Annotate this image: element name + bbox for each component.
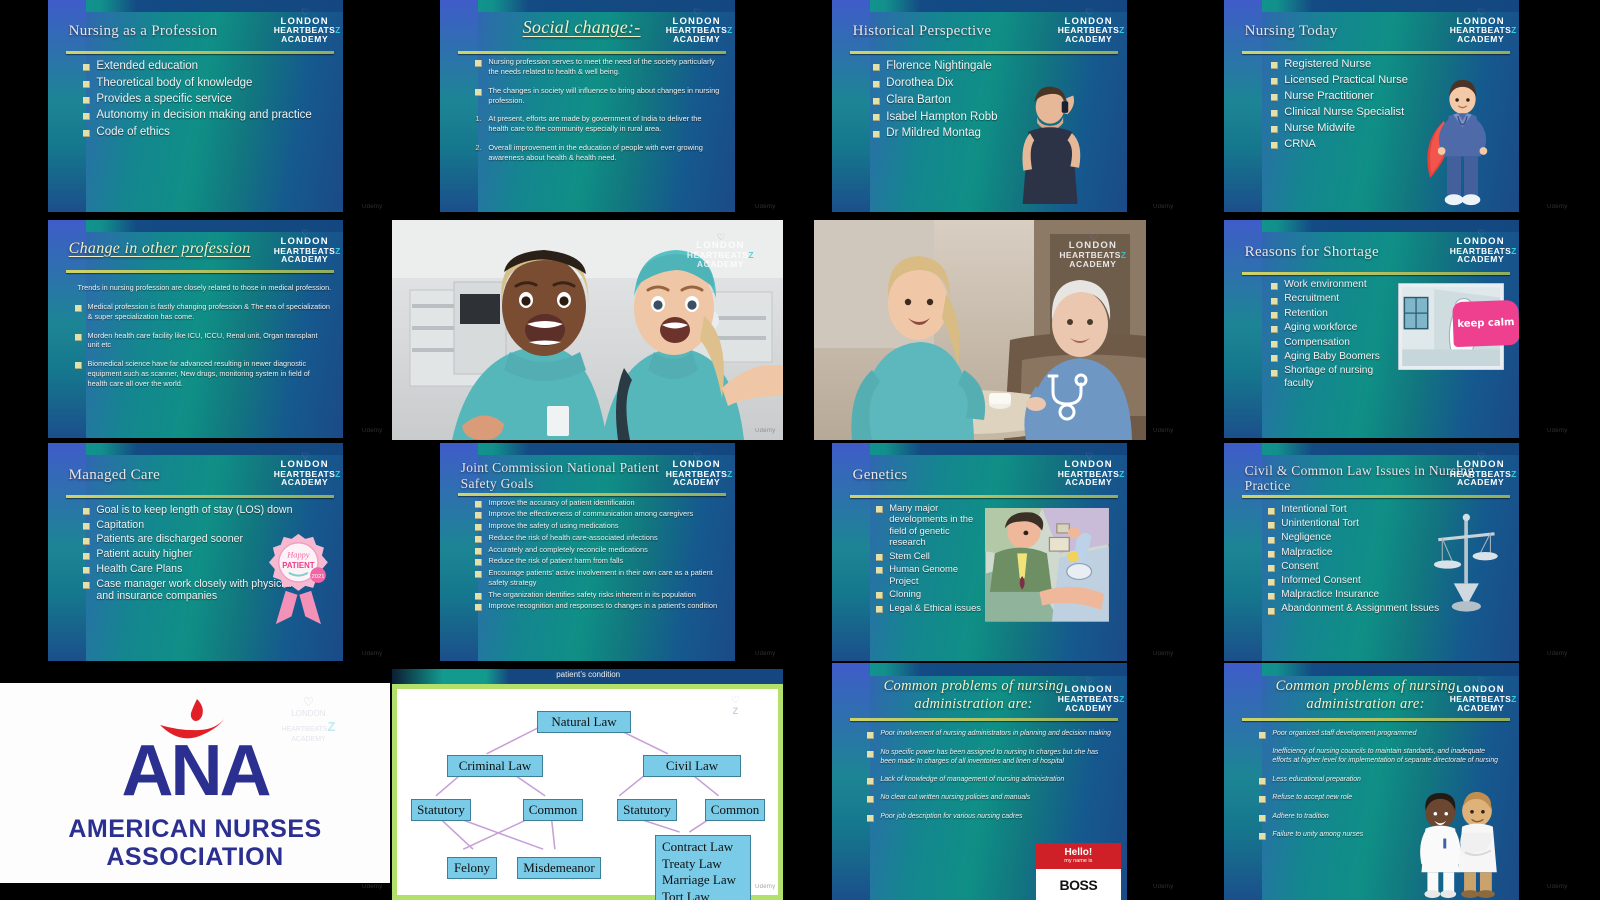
- watermark-udemy: Udemy: [755, 204, 776, 210]
- bullet-list: Work environment Recruitment Retention A…: [1271, 279, 1401, 393]
- title-rule: [458, 51, 726, 54]
- slide-tile-managed-care[interactable]: Managed Care ♡ LONDON HEARTBEATSZ ACADEM…: [48, 443, 343, 661]
- superhero-nurse-illustration: [1413, 76, 1507, 207]
- list-item: 2.Overall improvement in the education o…: [475, 143, 720, 163]
- list-item: Human Genome Project: [876, 563, 985, 586]
- slide-background: Nursing as a Profession ♡ LONDON HEARTBE…: [48, 0, 343, 212]
- page-title: Managed Care: [69, 467, 278, 484]
- list-item: Reduce the risk of patient harm from fal…: [475, 556, 723, 566]
- keep-calm-hospital-corridor-clipart: keep calm: [1398, 283, 1504, 370]
- brand-logo-watermark: ♡ Z: [731, 695, 740, 716]
- slide-left-band: [832, 663, 870, 900]
- ana-logo-slide: ANA AMERICAN NURSES ASSOCIATION ♡ LONDON…: [0, 683, 390, 883]
- happy-patient-rosette-badge: Happy PATIENT 2021: [263, 530, 334, 628]
- keep-calm-label: keep calm: [1457, 317, 1514, 329]
- page-title: Historical Perspective: [853, 23, 1062, 40]
- slide-left-band: [1224, 663, 1262, 900]
- brand-logo: ♡ LONDON HEARTBEATSZ ACADEMY: [666, 8, 728, 43]
- list-item: No clear cut written nursing policies an…: [867, 793, 1112, 802]
- list-item: Poor organized staff development program…: [1259, 729, 1504, 738]
- photo-tile-nurse-with-elderly[interactable]: ♡ LONDON HEARTBEATSZ ACADEMY: [814, 220, 1146, 440]
- title-rule: [66, 51, 334, 54]
- list-item: The organization identifies safety risks…: [475, 590, 723, 600]
- title-rule: [458, 493, 726, 496]
- watermark-udemy: Udemy: [1153, 204, 1174, 210]
- svg-text:PATIENT: PATIENT: [283, 561, 316, 570]
- list-item: Accurately and completely reconcile medi…: [475, 545, 723, 555]
- list-item: Compensation: [1271, 337, 1401, 349]
- bullet-list: Many major developments in the field of …: [876, 502, 985, 615]
- node-natural-law[interactable]: Natural Law: [537, 711, 631, 733]
- slide-background: Civil & Common Law Issues in Nursing Pra…: [1224, 443, 1519, 661]
- brand-line3: ACADEMY: [1450, 478, 1512, 487]
- slide-grid-canvas: Nursing as a Profession ♡ LONDON HEARTBE…: [0, 0, 1600, 900]
- slide-top-bar: [1224, 663, 1519, 676]
- watermark-udemy: Udemy: [755, 884, 776, 890]
- overlay-caption: patient’s condition: [556, 670, 620, 679]
- svg-text:2021: 2021: [312, 574, 325, 580]
- brand-logo: ♡ LONDON HEARTBEATSZ ACADEMY: [1053, 233, 1133, 268]
- list-item: Retention: [1271, 308, 1401, 320]
- photo-tile-two-nurses-selfie[interactable]: ♡ LONDON HEARTBEATSZ ACADEMY: [392, 220, 783, 440]
- node-criminal-law[interactable]: Criminal Law: [447, 755, 543, 777]
- heart-pulse-icon: ♡: [1450, 452, 1512, 461]
- ana-wordmark: ANA: [0, 741, 390, 802]
- scientist-with-microscope-clipart: [985, 508, 1109, 621]
- brand-line3: ACADEMY: [666, 478, 728, 487]
- badge-name-value: BOSS: [1059, 877, 1097, 893]
- heart-pulse-icon: ♡: [281, 695, 335, 709]
- title-rule: [1242, 495, 1510, 498]
- page-title: Nursing Today: [1245, 23, 1454, 40]
- brand-line3: ACADEMY: [666, 35, 728, 44]
- list-item: Stem Cell: [876, 550, 985, 561]
- list-item: Less educational preparation: [1259, 775, 1504, 784]
- node-civil-law-types[interactable]: Contract Law Treaty Law Marriage Law Tor…: [655, 835, 751, 900]
- list-item: Morden health care facility like ICU, IC…: [75, 331, 332, 351]
- slide-tile-reasons-for-shortage[interactable]: Reasons for Shortage ♡ LONDON HEARTBEATS…: [1224, 220, 1519, 438]
- watermark-udemy: Udemy: [1547, 884, 1568, 890]
- slide-tile-common-problems-2[interactable]: Common problems of nursing administratio…: [1224, 663, 1519, 900]
- brand-line3: ACADEMY: [1450, 35, 1512, 44]
- watermark-udemy: Udemy: [1547, 204, 1568, 210]
- slide-tile-nursing-as-a-profession[interactable]: Nursing as a Profession ♡ LONDON HEARTBE…: [48, 0, 343, 212]
- list-item: Legal & Ethical issues: [876, 602, 985, 613]
- list-item: Aging workforce: [1271, 322, 1401, 334]
- slide-background: Genetics ♡ LONDON HEARTBEATSZ ACADEMY Ma…: [832, 443, 1127, 661]
- list-item: Goal is to keep length of stay (LOS) dow…: [83, 504, 319, 517]
- previous-slide-strip: patient’s condition: [392, 669, 783, 684]
- list-item: Registered Nurse: [1271, 57, 1442, 71]
- list-item: The changes in society will influence to…: [475, 86, 720, 106]
- slide-background: Nursing Today ♡ LONDON HEARTBEATSZ ACADE…: [1224, 0, 1519, 212]
- heart-pulse-icon: ♡: [274, 8, 336, 17]
- bullet-list: Improve the accuracy of patient identifi…: [475, 498, 723, 614]
- two-nurses-cartoon: [1407, 789, 1507, 898]
- heart-pulse-icon: ♡: [1058, 677, 1120, 686]
- brand-line3: ACADEMY: [274, 35, 336, 44]
- brand-logo: ♡ LONDON HEARTBEATSZ ACADEMY: [274, 452, 336, 487]
- watermark-udemy: Udemy: [362, 884, 383, 890]
- list-item: Trends in nursing profession are closely…: [75, 283, 332, 293]
- watermark-udemy: Udemy: [1153, 651, 1174, 657]
- heart-pulse-icon: ♡: [1053, 233, 1133, 242]
- bullet-list: Poor involvement of nursing administrato…: [867, 729, 1112, 823]
- brand-logo: ♡ LONDON HEARTBEATSZ ACADEMY: [1058, 8, 1120, 43]
- list-item: Improve recognition and responses to cha…: [475, 601, 723, 611]
- brand-line3: ACADEMY: [674, 260, 768, 269]
- brand-line3: ACADEMY: [1058, 704, 1120, 713]
- list-item: Improve the safety of using medications: [475, 521, 723, 531]
- slide-tile-common-problems-1[interactable]: Common problems of nursing administratio…: [832, 663, 1127, 900]
- slide-tile-genetics[interactable]: Genetics ♡ LONDON HEARTBEATSZ ACADEMY Ma…: [832, 443, 1127, 661]
- watermark-udemy: Udemy: [362, 651, 383, 657]
- title-rule: [66, 270, 334, 273]
- brand-logo: ♡ LONDON HEARTBEATSZ ACADEMY: [674, 233, 768, 268]
- brand-line3: ACADEMY: [274, 255, 336, 264]
- list-item: Work environment: [1271, 279, 1401, 291]
- bullet-list: Nursing profession serves to meet the ne…: [475, 57, 720, 164]
- heart-pulse-icon: ♡: [1450, 229, 1512, 238]
- heart-pulse-icon: ♡: [666, 452, 728, 461]
- list-item: Improve the effectiveness of communicati…: [475, 509, 723, 519]
- bullet-list: Trends in nursing profession are closely…: [75, 283, 332, 390]
- slide-background: Change in other profession ♡ LONDON HEAR…: [48, 220, 343, 438]
- list-item: Theoretical body of knowledge: [83, 76, 325, 90]
- list-item: Cloning: [876, 588, 985, 599]
- heart-pulse-icon: ♡: [674, 233, 768, 242]
- brand-line3: ACADEMY: [1450, 255, 1512, 264]
- node-felony[interactable]: Felony: [447, 857, 497, 879]
- slide-background: Social change:- ♡ LONDON HEARTBEATSZ ACA…: [440, 0, 735, 212]
- list-item: Lack of knowledge of management of nursi…: [867, 775, 1112, 784]
- heart-pulse-icon: ♡: [274, 452, 336, 461]
- slide-left-band: [440, 0, 478, 212]
- title-rule: [850, 718, 1118, 721]
- bullet-list: Extended education Theoretical body of k…: [83, 59, 325, 141]
- heart-pulse-icon: ♡: [1058, 452, 1120, 461]
- list-item: Reduce the risk of health care-associate…: [475, 533, 723, 543]
- heart-pulse-icon: ♡: [731, 695, 740, 706]
- list-item: 1. At present, efforts are made by gover…: [475, 114, 720, 134]
- brand-line3: ACADEMY: [274, 478, 336, 487]
- brand-logo: ♡ LONDON HEARTBEATSZ ACADEMY: [1450, 8, 1512, 43]
- heart-pulse-icon: ♡: [1450, 8, 1512, 17]
- watermark-udemy: Udemy: [362, 204, 383, 210]
- brand-logo: ♡ LONDON HEARTBEATSZ ACADEMY: [1450, 229, 1512, 264]
- slide-background: Common problems of nursing administratio…: [832, 663, 1127, 900]
- brand-logo: ♡ LONDON HEARTBEATSZ ACADEMY: [274, 8, 336, 43]
- page-title: Joint Commission National Patient Safety…: [461, 460, 665, 490]
- slide-tile-historical-perspective[interactable]: Historical Perspective ♡ LONDON HEARTBEA…: [832, 0, 1127, 212]
- list-item: No specific power has been assigned to n…: [867, 748, 1112, 767]
- title-rule: [850, 495, 1118, 498]
- title-rule: [66, 495, 334, 498]
- list-item: Aging Baby Boomers: [1271, 351, 1401, 363]
- slide-tile-change-in-other-profession[interactable]: Change in other profession ♡ LONDON HEAR…: [48, 220, 343, 438]
- heart-pulse-icon: ♡: [274, 229, 336, 238]
- nurse-with-elderly-patient-photo: ♡ LONDON HEARTBEATSZ ACADEMY: [814, 220, 1146, 440]
- svg-text:Happy: Happy: [287, 551, 311, 560]
- slide-tile-nursing-today[interactable]: Nursing Today ♡ LONDON HEARTBEATSZ ACADE…: [1224, 0, 1519, 212]
- node-misdemeanor[interactable]: Misdemeanor: [517, 857, 601, 879]
- title-rule: [1242, 272, 1510, 275]
- list-item: Autonomy in decision making and practice: [83, 108, 325, 122]
- node-criminal-common[interactable]: Common: [523, 799, 583, 821]
- brand-line3: ACADEMY: [1450, 704, 1512, 713]
- list-item: Nursing profession serves to meet the ne…: [475, 57, 720, 77]
- hello-my-name-is-boss-badge: Hello! my name is BOSS: [1036, 843, 1122, 900]
- slide-background: Managed Care ♡ LONDON HEARTBEATSZ ACADEM…: [48, 443, 343, 661]
- slide-tile-ana-logo[interactable]: ANA AMERICAN NURSES ASSOCIATION ♡ LONDON…: [0, 683, 390, 883]
- list-item: Medical profession is fastly changing pr…: [75, 302, 332, 322]
- slide-top-bar: [832, 663, 1127, 676]
- watermark-udemy: Udemy: [1153, 884, 1174, 890]
- list-item: Provides a specific service: [83, 92, 325, 106]
- watermark-udemy: Udemy: [755, 651, 776, 657]
- two-nurses-selfie-photo: ♡ LONDON HEARTBEATSZ ACADEMY: [392, 220, 783, 440]
- list-item: Biomedical science have far advanced res…: [75, 359, 332, 388]
- heart-pulse-icon: ♡: [1450, 677, 1512, 686]
- brand-logo: ♡ LONDON HEARTBEATSZ ACADEMY: [274, 229, 336, 264]
- watermark-udemy: Udemy: [755, 428, 776, 434]
- title-rule: [1242, 718, 1510, 721]
- list-item: Recruitment: [1271, 293, 1401, 305]
- page-title: Social change:-: [475, 17, 687, 37]
- list-item: Code of ethics: [83, 125, 325, 139]
- man-on-phone-photo: [1000, 81, 1100, 204]
- scales-of-justice-image: [1428, 508, 1505, 613]
- page-title: Common problems of nursing administratio…: [867, 677, 1079, 713]
- ana-full-name: AMERICAN NURSES ASSOCIATION: [0, 815, 390, 871]
- badge-subtitle: my name is: [1064, 858, 1092, 865]
- law-diagram-canvas: Natural Law Criminal Law Civil Law Statu…: [392, 684, 783, 900]
- list-item: Poor job description for various nursing…: [867, 812, 1112, 821]
- watermark-udemy: Udemy: [1153, 428, 1174, 434]
- list-item: Encourage patients’ active involvement i…: [475, 568, 723, 588]
- node-civil-common[interactable]: Common: [705, 799, 765, 821]
- stethoscope-icon: [1041, 370, 1093, 422]
- page-title: Reasons for Shortage: [1245, 244, 1454, 261]
- list-item: Many major developments in the field of …: [876, 502, 985, 548]
- brand-logo: ♡ LONDON HEARTBEATSZ ACADEMY: [1058, 452, 1120, 487]
- page-title: Nursing as a Profession: [69, 23, 278, 40]
- title-rule: [1242, 51, 1510, 54]
- heart-pulse-icon: ♡: [1058, 8, 1120, 17]
- heart-pulse-icon: ♡: [666, 8, 728, 17]
- list-item: Shortage of nursing faculty: [1271, 365, 1401, 390]
- slide-tile-law-hierarchy-diagram[interactable]: patient’s condition Natural Law Criminal…: [392, 669, 783, 900]
- list-item: Extended education: [83, 59, 325, 73]
- slide-background: Common problems of nursing administratio…: [1224, 663, 1519, 900]
- brand-line3: ACADEMY: [1058, 478, 1120, 487]
- list-item: Improve the accuracy of patient identifi…: [475, 498, 723, 508]
- slide-background: Joint Commission National Patient Safety…: [440, 443, 735, 661]
- slide-tile-joint-commission-goals[interactable]: Joint Commission National Patient Safety…: [440, 443, 735, 661]
- brand-logo: ♡ LONDON HEARTBEATSZ ACADEMY: [1450, 452, 1512, 487]
- watermark-udemy: Udemy: [362, 428, 383, 434]
- list-item: Poor involvement of nursing administrato…: [867, 729, 1112, 738]
- node-criminal-statutory[interactable]: Statutory: [411, 799, 471, 821]
- brand-logo: ♡ LONDON HEARTBEATSZ ACADEMY: [1450, 677, 1512, 712]
- page-title: Genetics: [853, 467, 1062, 484]
- brand-logo-watermark: ♡ LONDON HEARTBEATSZ ACADEMY: [281, 695, 335, 743]
- page-title: Common problems of nursing administratio…: [1259, 677, 1471, 713]
- watermark-udemy: Udemy: [1547, 428, 1568, 434]
- list-item: Florence Nightingale: [873, 59, 1032, 74]
- slide-background: Reasons for Shortage ♡ LONDON HEARTBEATS…: [1224, 220, 1519, 438]
- brand-logo: ♡ LONDON HEARTBEATSZ ACADEMY: [666, 452, 728, 487]
- slide-tile-civil-common-law-issues[interactable]: Civil & Common Law Issues in Nursing Pra…: [1224, 443, 1519, 661]
- slide-tile-social-change[interactable]: Social change:- ♡ LONDON HEARTBEATSZ ACA…: [440, 0, 735, 212]
- brand-line3: ACADEMY: [1053, 260, 1133, 269]
- watermark-udemy: Udemy: [1547, 651, 1568, 657]
- node-civil-law[interactable]: Civil Law: [643, 755, 741, 777]
- brand-line3: ACADEMY: [1058, 35, 1120, 44]
- node-civil-statutory[interactable]: Statutory: [617, 799, 677, 821]
- list-item: Inefficiency of nursing councils to main…: [1259, 747, 1504, 766]
- badge-hello-label: Hello!: [1064, 848, 1092, 858]
- slide-background: Historical Perspective ♡ LONDON HEARTBEA…: [832, 0, 1127, 212]
- title-rule: [850, 51, 1118, 54]
- brand-logo: ♡ LONDON HEARTBEATSZ ACADEMY: [1058, 677, 1120, 712]
